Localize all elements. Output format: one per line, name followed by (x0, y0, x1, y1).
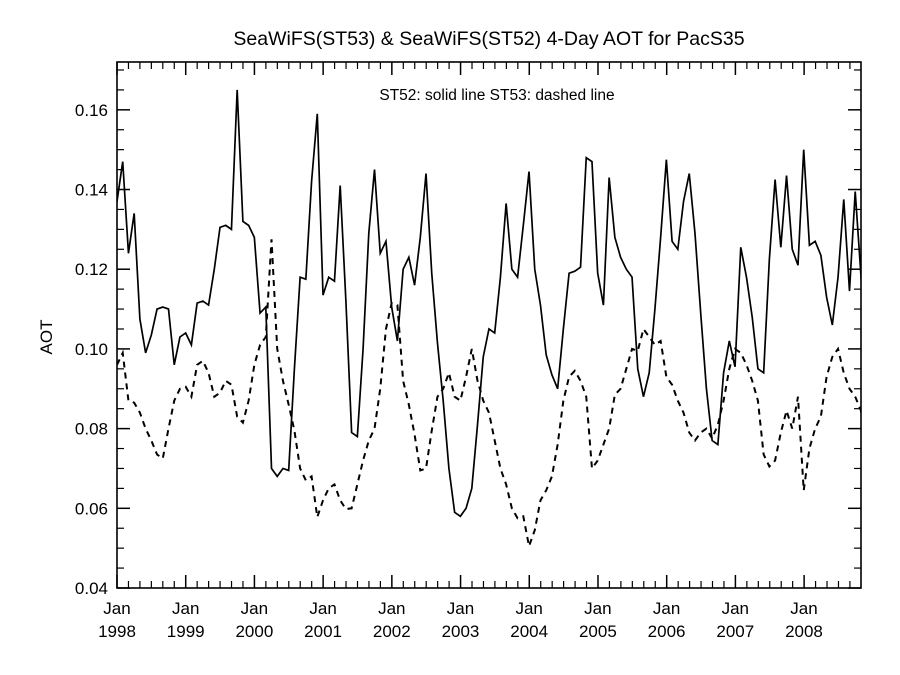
x-tick-year: 2000 (235, 622, 273, 641)
x-tick-month: Jan (447, 599, 474, 618)
x-tick-month: Jan (653, 599, 680, 618)
y-tick-label: 0.12 (75, 260, 108, 279)
x-tick-year: 2001 (304, 622, 342, 641)
x-tick-year: 2006 (648, 622, 686, 641)
y-tick-label: 0.04 (75, 579, 108, 598)
y-tick-label: 0.08 (75, 420, 108, 439)
x-tick-month: Jan (103, 599, 130, 618)
chart-figure: SeaWiFS(ST53) & SeaWiFS(ST52) 4-Day AOT … (0, 0, 900, 675)
x-tick-month: Jan (584, 599, 611, 618)
x-tick-year: 1999 (167, 622, 205, 641)
x-tick-month: Jan (515, 599, 542, 618)
x-tick-month: Jan (241, 599, 268, 618)
page-title: SeaWiFS(ST53) & SeaWiFS(ST52) 4-Day AOT … (233, 28, 744, 50)
x-tick-month: Jan (172, 599, 199, 618)
x-tick-year: 2005 (579, 622, 617, 641)
y-tick-label: 0.14 (75, 181, 108, 200)
x-tick-year: 2003 (442, 622, 480, 641)
y-tick-label: 0.16 (75, 101, 108, 120)
x-tick-year: 2002 (373, 622, 411, 641)
x-tick-year: 2008 (785, 622, 823, 641)
y-tick-label: 0.10 (75, 340, 108, 359)
x-tick-year: 2004 (510, 622, 548, 641)
x-tick-month: Jan (378, 599, 405, 618)
y-axis-label: AOT (37, 320, 56, 355)
legend-annotation: ST52: solid line ST53: dashed line (379, 87, 614, 104)
x-tick-year: 1998 (98, 622, 136, 641)
x-tick-month: Jan (309, 599, 336, 618)
y-tick-label: 0.06 (75, 499, 108, 518)
x-tick-month: Jan (722, 599, 749, 618)
aot-time-series-chart: SeaWiFS(ST53) & SeaWiFS(ST52) 4-Day AOT … (0, 0, 900, 675)
x-tick-year: 2007 (716, 622, 754, 641)
x-tick-month: Jan (790, 599, 817, 618)
